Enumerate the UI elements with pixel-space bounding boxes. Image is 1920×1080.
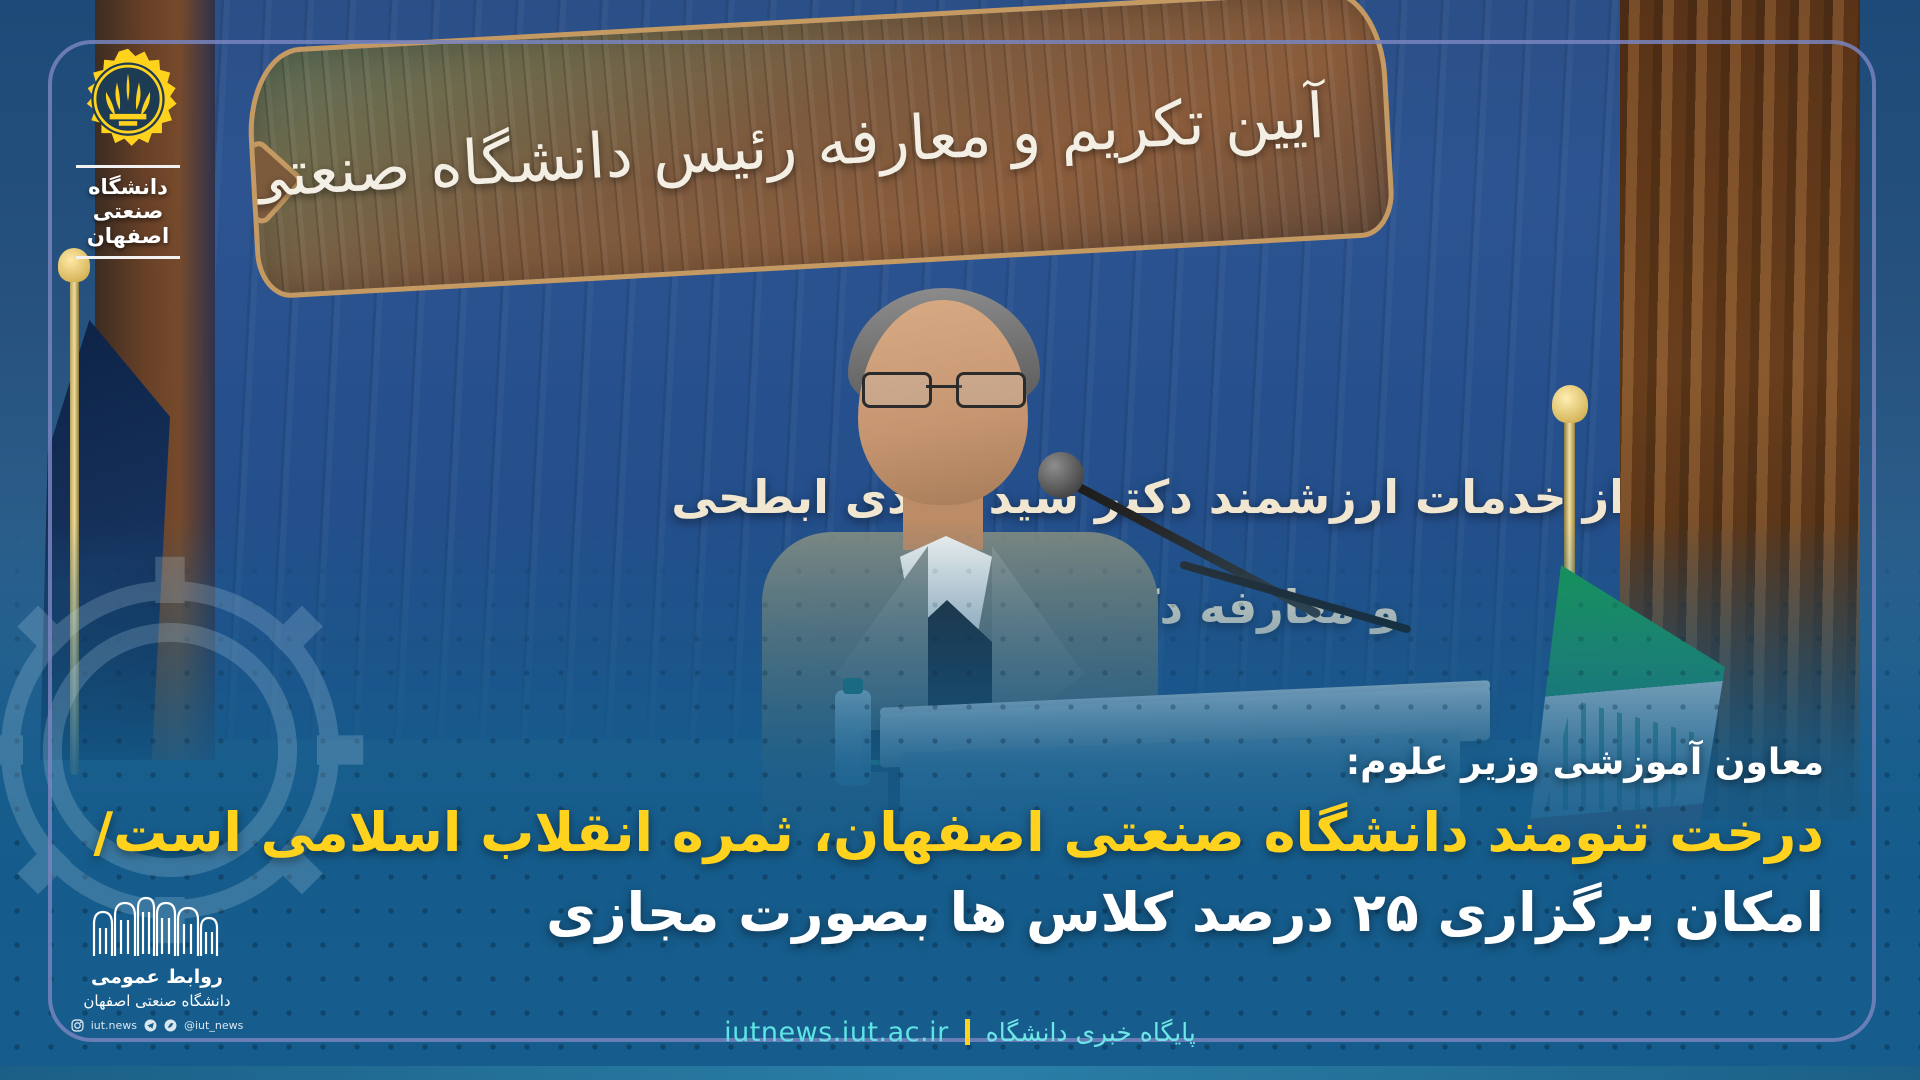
footer-label: پایگاه خبری دانشگاه [986, 1018, 1196, 1047]
logo-rule-bottom [76, 256, 180, 259]
pr-logo-line1: روابط عمومی [52, 966, 262, 988]
kicker-text: معاون آموزشی وزیر علوم: [1346, 742, 1824, 783]
footer-bar: iutnews.iut.ac.ir پایگاه خبری دانشگاه [0, 1006, 1920, 1058]
news-banner-image: آیین تکریم و معارفه رئیس دانشگاه صنعتی ا… [0, 0, 1920, 1080]
iut-gear-emblem-icon [73, 46, 183, 156]
footer-accent-band [0, 1066, 1920, 1080]
university-logo-line1: دانشگاه [58, 175, 198, 199]
speaker-glasses [862, 372, 1026, 402]
flag-finial-right [1552, 385, 1588, 423]
headline-line-1: درخت تنومند دانشگاه صنعتی اصفهان، ثمره ا… [96, 800, 1824, 866]
university-logo-line3: اصفهان [58, 224, 198, 248]
headline-line-2: امکان برگزاری ۲۵ درصد کلاس ها بصورت مجاز… [96, 880, 1824, 946]
university-logo-line2: صنعتی [58, 199, 198, 223]
footer-separator [965, 1019, 970, 1045]
microphone-head [1038, 452, 1084, 498]
news-site-url[interactable]: iutnews.iut.ac.ir [724, 1017, 949, 1048]
logo-rule-top [76, 165, 180, 168]
university-logo: دانشگاه صنعتی اصفهان [58, 46, 198, 259]
